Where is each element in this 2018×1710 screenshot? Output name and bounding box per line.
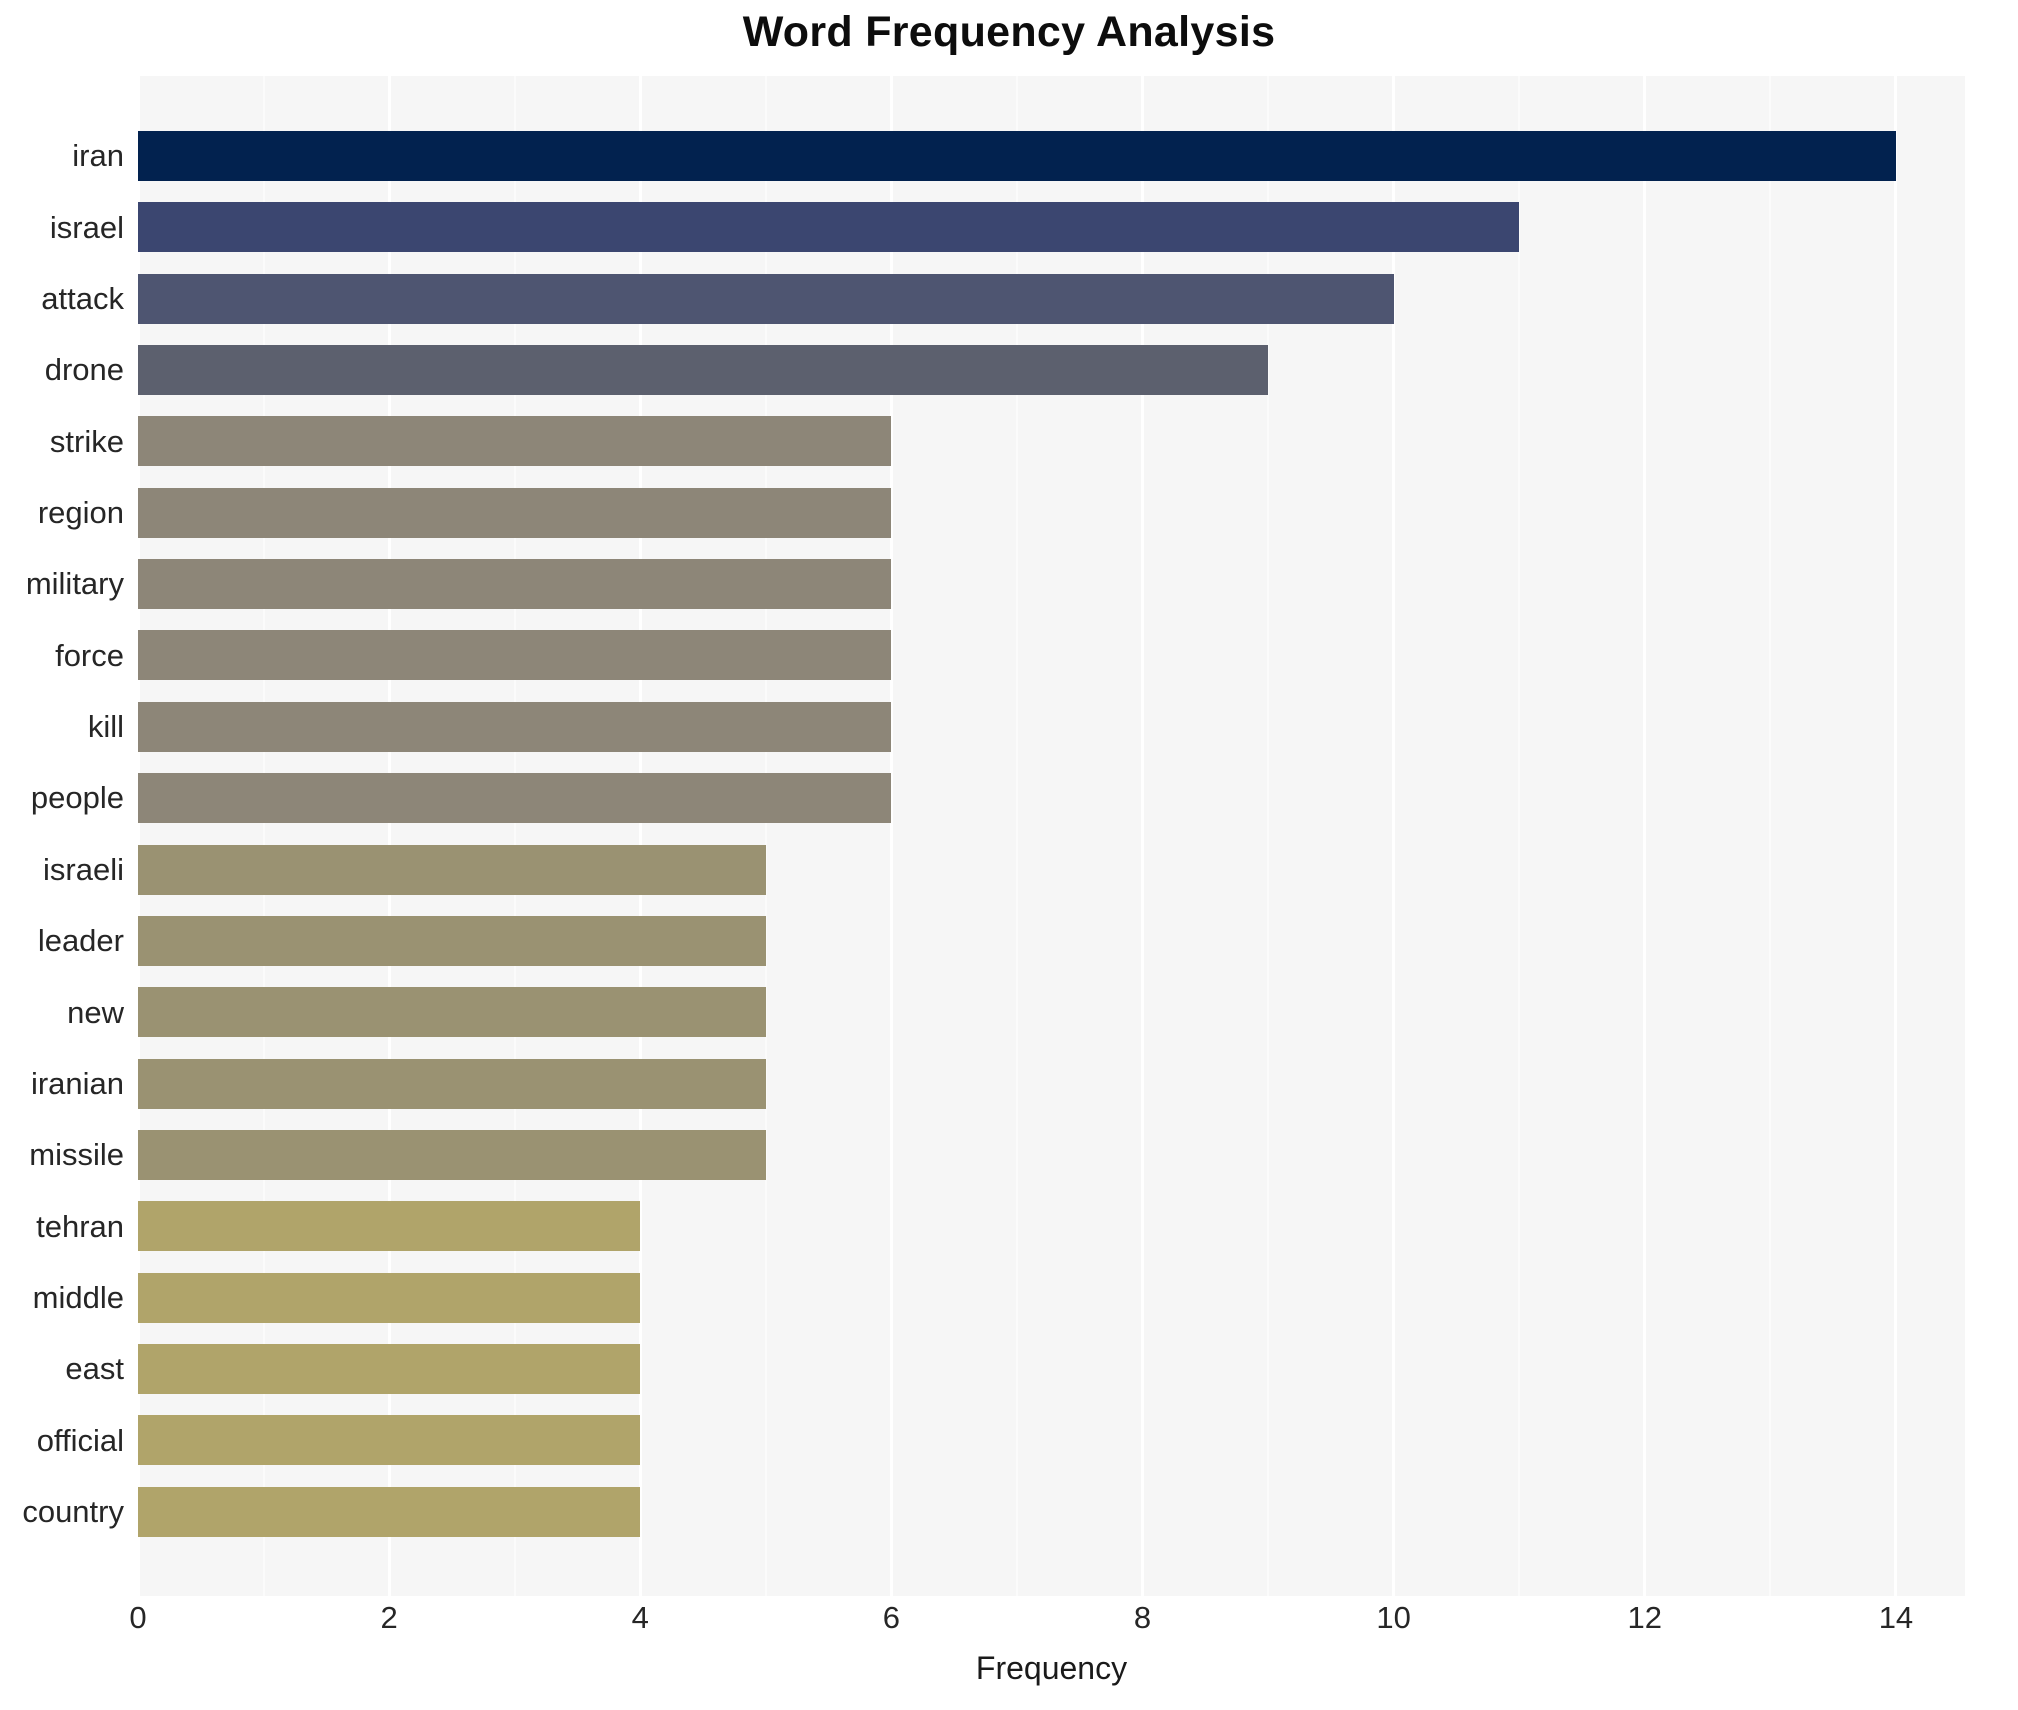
- y-axis-tick-label: region: [0, 477, 124, 548]
- y-axis-tick-label: iranian: [0, 1048, 124, 1119]
- x-axis-title: Frequency: [138, 1650, 1965, 1687]
- x-axis-tick-label: 0: [129, 1600, 146, 1636]
- y-axis-tick-label: iran: [0, 120, 124, 191]
- bar: [138, 131, 1896, 181]
- y-axis-tick-label: middle: [0, 1262, 124, 1333]
- bar-row: [138, 977, 1965, 1048]
- bar-row: [138, 1191, 1965, 1262]
- x-axis-tick-label: 2: [381, 1600, 398, 1636]
- y-axis-tick-label: force: [0, 620, 124, 691]
- y-axis-tick-labels: iranisraelattackdronestrikeregionmilitar…: [0, 76, 124, 1596]
- bar-row: [138, 120, 1965, 191]
- plot-area: [138, 76, 1965, 1596]
- bar-row: [138, 691, 1965, 762]
- bar-row: [138, 620, 1965, 691]
- y-axis-tick-label: israel: [0, 192, 124, 263]
- bar-row: [138, 192, 1965, 263]
- bar-row: [138, 1119, 1965, 1190]
- bar-row: [138, 1405, 1965, 1476]
- bar: [138, 274, 1394, 324]
- chart-title: Word Frequency Analysis: [0, 8, 2018, 57]
- bar: [138, 1415, 640, 1465]
- y-axis-tick-label: official: [0, 1405, 124, 1476]
- bar: [138, 202, 1519, 252]
- y-axis-tick-label: missile: [0, 1119, 124, 1190]
- bar: [138, 773, 891, 823]
- bar-row: [138, 1262, 1965, 1333]
- bar: [138, 1487, 640, 1537]
- bar-row: [138, 477, 1965, 548]
- y-axis-tick-label: drone: [0, 334, 124, 405]
- bar-series: [138, 76, 1965, 1596]
- x-axis-tick-label: 10: [1376, 1600, 1410, 1636]
- y-axis-tick-label: east: [0, 1333, 124, 1404]
- y-axis-tick-label: people: [0, 762, 124, 833]
- x-axis-tick-label: 8: [1134, 1600, 1151, 1636]
- bar: [138, 987, 766, 1037]
- x-axis-tick-label: 14: [1879, 1600, 1913, 1636]
- bar: [138, 345, 1268, 395]
- bar-row: [138, 905, 1965, 976]
- y-axis-tick-label: kill: [0, 691, 124, 762]
- bar-row: [138, 263, 1965, 334]
- bar: [138, 1201, 640, 1251]
- bar-row: [138, 1048, 1965, 1119]
- x-axis-tick-label: 4: [632, 1600, 649, 1636]
- bar: [138, 916, 766, 966]
- bar-row: [138, 1476, 1965, 1547]
- x-axis-tick-labels: 02468101214: [138, 1600, 1965, 1646]
- bar: [138, 702, 891, 752]
- bar-row: [138, 1333, 1965, 1404]
- y-axis-tick-label: new: [0, 977, 124, 1048]
- y-axis-tick-label: military: [0, 548, 124, 619]
- bar: [138, 488, 891, 538]
- y-axis-tick-label: country: [0, 1476, 124, 1547]
- bar: [138, 630, 891, 680]
- y-axis-tick-label: leader: [0, 905, 124, 976]
- bar-row: [138, 548, 1965, 619]
- bar: [138, 845, 766, 895]
- bar: [138, 1273, 640, 1323]
- y-axis-tick-label: attack: [0, 263, 124, 334]
- bar: [138, 1059, 766, 1109]
- bar-row: [138, 334, 1965, 405]
- bar-row: [138, 834, 1965, 905]
- y-axis-tick-label: israeli: [0, 834, 124, 905]
- bar: [138, 1130, 766, 1180]
- bar: [138, 559, 891, 609]
- x-axis-tick-label: 6: [883, 1600, 900, 1636]
- bar: [138, 416, 891, 466]
- x-axis-tick-label: 12: [1628, 1600, 1662, 1636]
- y-axis-tick-label: strike: [0, 406, 124, 477]
- bar-row: [138, 406, 1965, 477]
- chart-figure: Word Frequency Analysis iranisraelattack…: [0, 0, 2018, 1710]
- y-axis-tick-label: tehran: [0, 1191, 124, 1262]
- bar: [138, 1344, 640, 1394]
- bar-row: [138, 762, 1965, 833]
